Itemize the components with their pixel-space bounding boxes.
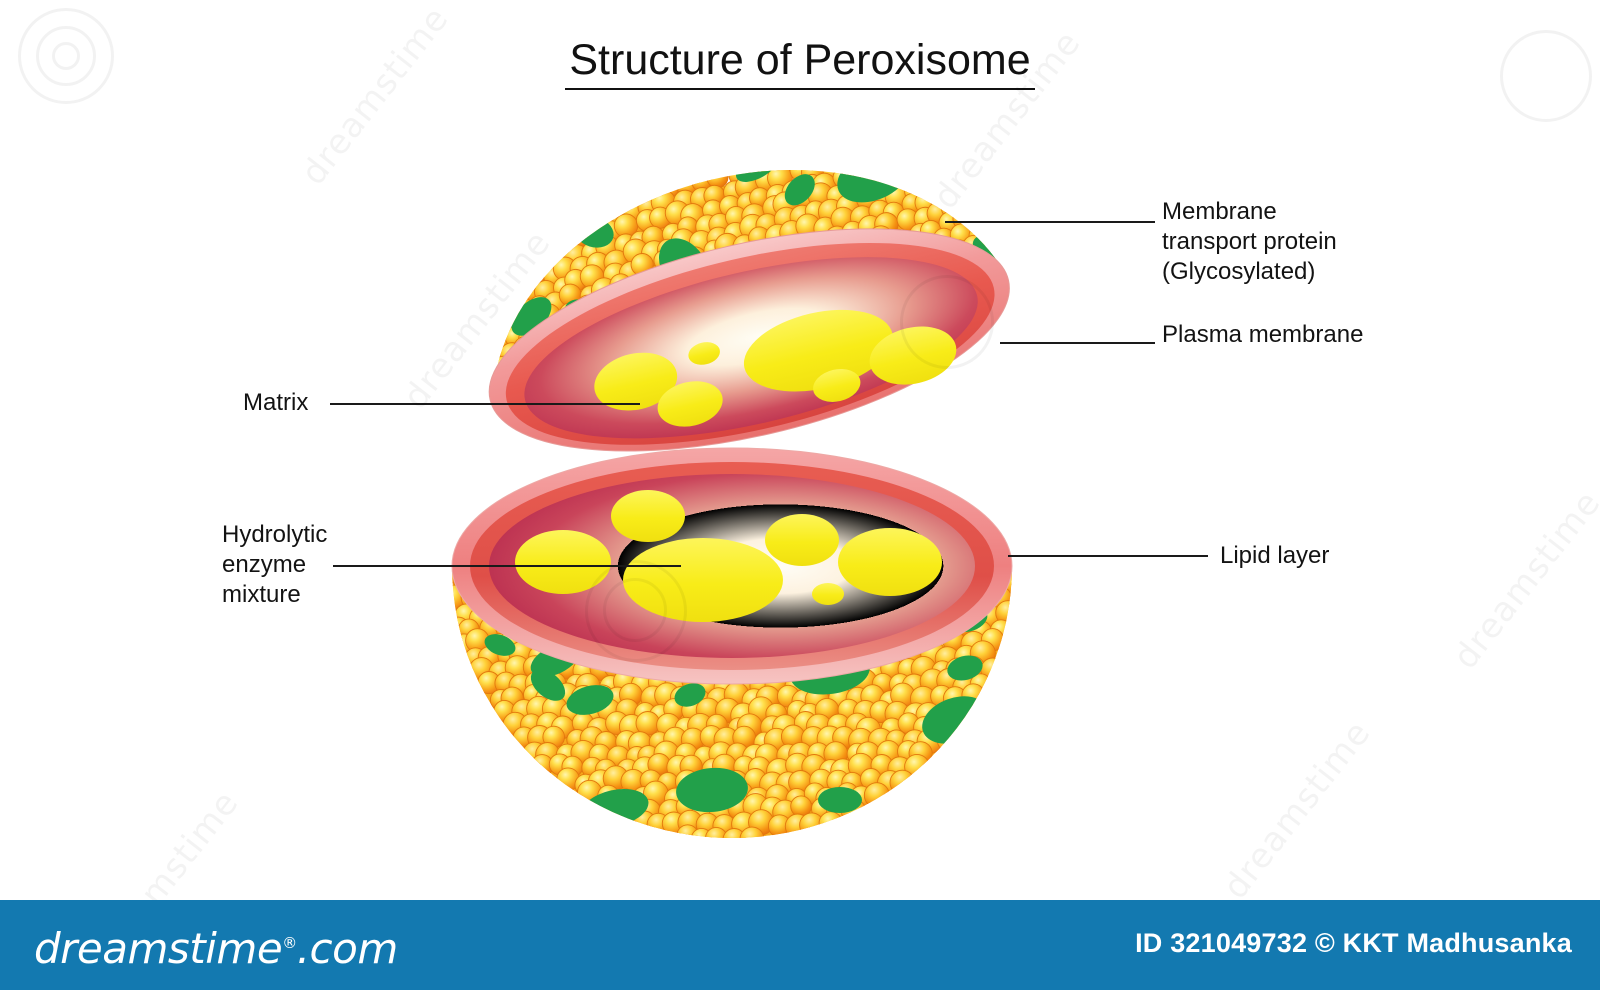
label-plasma-membrane-text: Plasma membrane	[1162, 320, 1363, 350]
label-matrix-text: Matrix	[243, 388, 308, 418]
label-line-2: enzyme	[222, 550, 327, 580]
registered-mark-icon: ®	[282, 934, 297, 952]
label-line-3: (Glycosylated)	[1162, 257, 1337, 287]
leader-line-hydrolytic-enzyme-mixture	[333, 565, 681, 567]
leader-line-plasma-membrane	[1000, 342, 1155, 344]
page-title-text: Structure of Peroxisome	[565, 36, 1034, 90]
upper-hemisphere-lid	[433, 61, 1055, 495]
dreamstime-logo-suffix: .com	[297, 924, 398, 973]
lower-hemisphere-bowl	[442, 448, 1026, 851]
peroxisome-svg	[0, 0, 1600, 900]
dreamstime-logo[interactable]: dreamstime®.com	[34, 924, 398, 973]
leader-line-matrix	[330, 403, 640, 405]
label-membrane-transport-protein: Membrane transport protein (Glycosylated…	[1162, 197, 1337, 287]
label-lipid-layer-text: Lipid layer	[1220, 541, 1329, 571]
leader-line-membrane-transport-protein	[945, 221, 1155, 223]
page-title: Structure of Peroxisome	[0, 36, 1600, 90]
leader-line-lipid-layer	[1008, 555, 1208, 557]
label-lipid-layer: Lipid layer	[1220, 541, 1329, 571]
label-plasma-membrane: Plasma membrane	[1162, 320, 1363, 350]
dreamstime-logo-text: dreamstime	[34, 924, 282, 973]
label-line-1: Hydrolytic	[222, 520, 327, 550]
footer-bar: dreamstime®.com ID 321049732 © KKT Madhu…	[0, 900, 1600, 990]
label-line-2: transport protein	[1162, 227, 1337, 257]
image-credit: ID 321049732 © KKT Madhusanka	[1135, 928, 1572, 959]
peroxisome-diagram	[0, 0, 1600, 900]
label-line-1: Membrane	[1162, 197, 1337, 227]
label-line-3: mixture	[222, 580, 327, 610]
label-matrix: Matrix	[243, 388, 308, 418]
label-hydrolytic-enzyme-mixture: Hydrolytic enzyme mixture	[222, 520, 327, 610]
